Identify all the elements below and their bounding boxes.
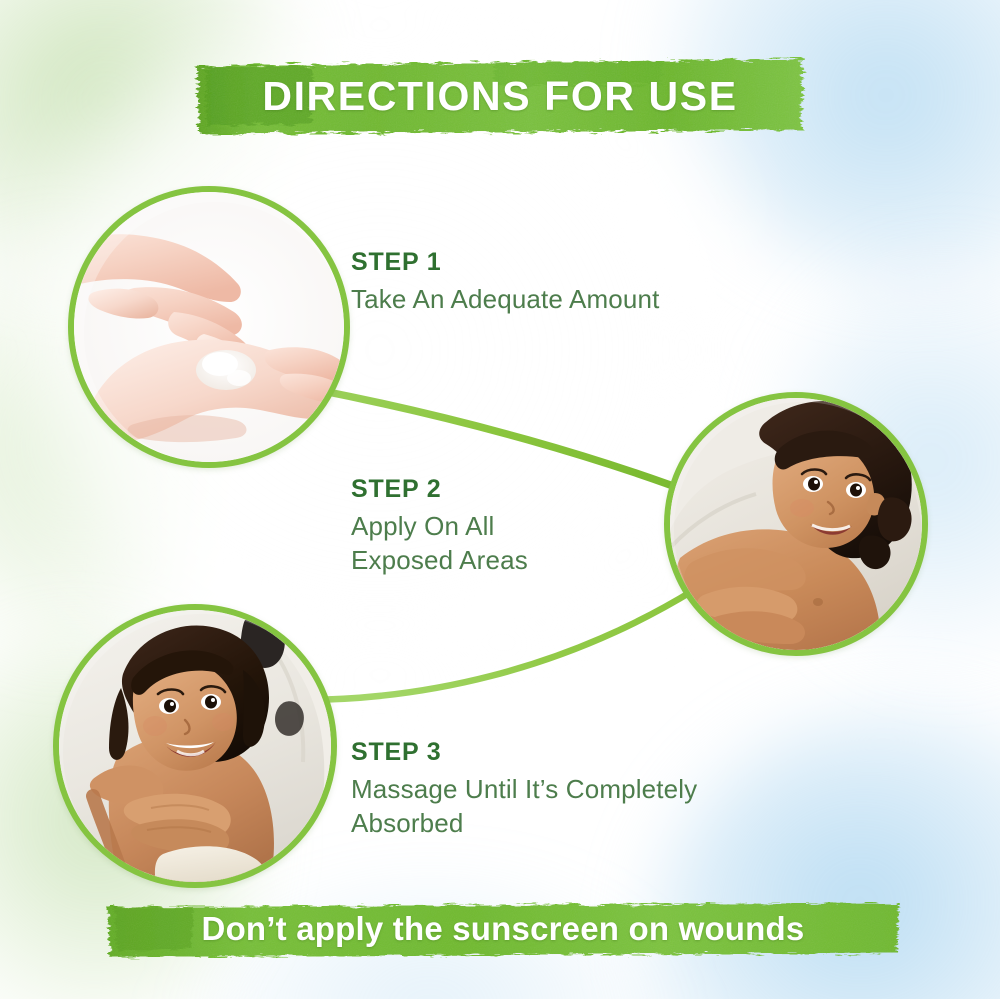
step-2-description-line-2: Exposed Areas [351, 544, 528, 578]
step-3-title: STEP 3 [351, 738, 697, 767]
baby-lying-down-photo [670, 398, 922, 650]
connector-step2-to-step3 [300, 590, 694, 700]
step3-image-circle [53, 604, 337, 888]
step-2-description: Apply On All Exposed Areas [351, 510, 528, 578]
step1-image-circle [68, 186, 350, 468]
step2-image-circle [664, 392, 928, 656]
step-1-description-line-1: Take An Adequate Amount [351, 283, 659, 317]
step-2-description-line-1: Apply On All [351, 510, 528, 544]
directions-for-use-infographic: DIRECTIONS FOR USE [0, 0, 1000, 999]
step-2-text-block: STEP 2 Apply On All Exposed Areas [351, 475, 528, 578]
step-1-description: Take An Adequate Amount [351, 283, 659, 317]
step-3-text-block: STEP 3 Massage Until It’s Completely Abs… [351, 738, 697, 841]
step-3-description-line-2: Absorbed [351, 807, 697, 841]
footer-note: Don’t apply the sunscreen on wounds [202, 910, 805, 948]
step-3-description: Massage Until It’s Completely Absorbed [351, 773, 697, 841]
hands-with-cream-photo [74, 192, 344, 462]
step-2-title: STEP 2 [351, 475, 528, 504]
page-title: DIRECTIONS FOR USE [262, 73, 737, 120]
step-1-title: STEP 1 [351, 248, 659, 277]
step-3-description-line-1: Massage Until It’s Completely [351, 773, 697, 807]
baby-sitting-smiling-photo [59, 610, 331, 882]
step-1-text-block: STEP 1 Take An Adequate Amount [351, 248, 659, 317]
